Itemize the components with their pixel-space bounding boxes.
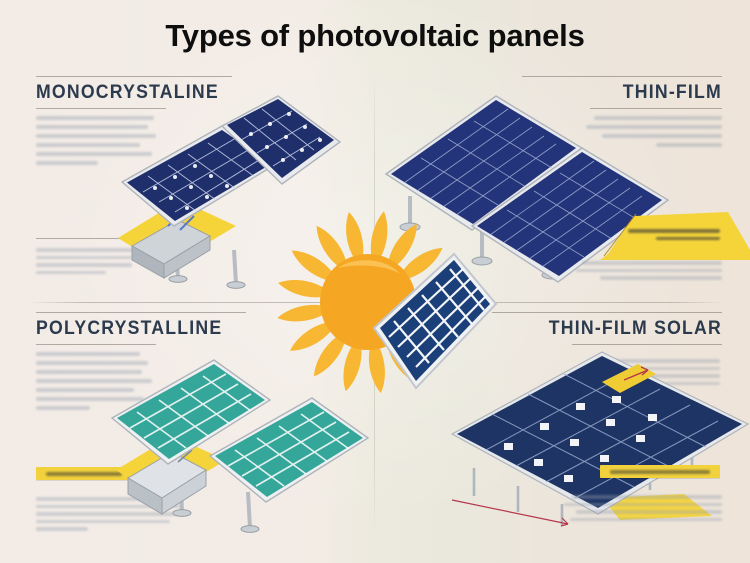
- callout-label-thin-film: [608, 222, 720, 244]
- chip-thin-film-solar[interactable]: [600, 465, 720, 478]
- section-heading-polycrystalline: POLYCRYSTALLINE: [36, 313, 231, 344]
- page-title: Types of photovoltaic panels: [0, 18, 750, 54]
- section-thin-film: THIN-FILM: [522, 76, 722, 152]
- note-copy-thin-film: [572, 254, 722, 284]
- chip-label: [610, 470, 710, 474]
- section-heading-monocrystaline: MONOCRYSTALINE: [36, 77, 218, 108]
- infographic-canvas: Types of photovoltaic panels MONOCRYSTAL…: [0, 0, 750, 563]
- section-heading-thin-film-solar: THIN-FILM SOLAR: [508, 313, 722, 344]
- illustration-center-sun-and-panel: [258, 216, 498, 426]
- body-copy-thin-film: [522, 109, 722, 147]
- heading-rule-bottom: [572, 344, 722, 345]
- section-heading-thin-film: THIN-FILM: [536, 77, 722, 108]
- callout-arrow-bottom: [452, 500, 568, 526]
- section-thin-film-solar: THIN-FILM SOLAR: [492, 312, 722, 345]
- note-copy-thin-film-solar: [562, 488, 722, 525]
